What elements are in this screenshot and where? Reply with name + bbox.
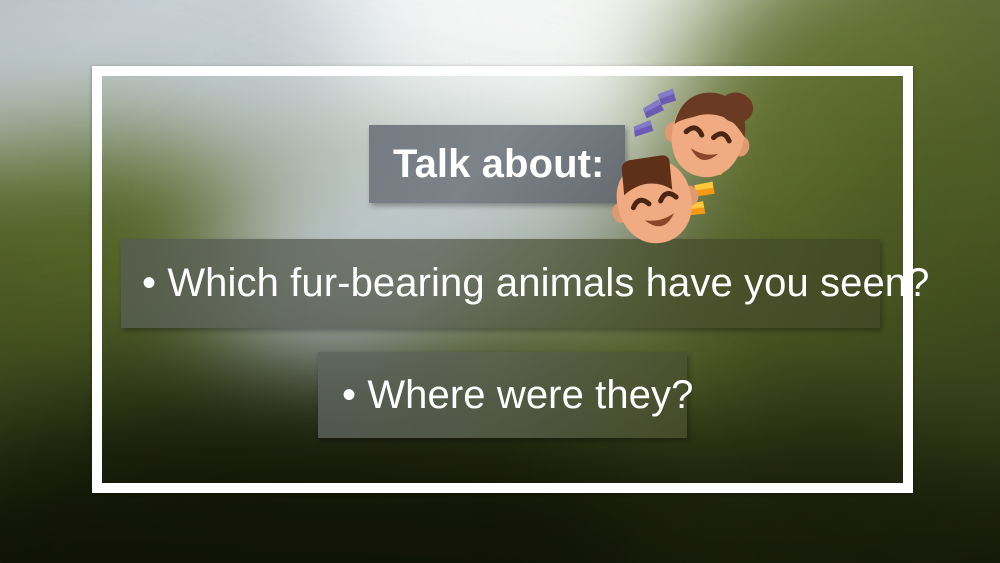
title-banner: Talk about: — [369, 125, 625, 203]
two-people-talking-emoji-icon — [604, 82, 756, 244]
page-title: Talk about: — [393, 142, 604, 187]
bullet-banner-1: • Which fur-bearing animals have you see… — [121, 239, 880, 328]
slide-canvas: Talk about: • Which fur-bearing animals … — [0, 0, 1000, 563]
bullet-text-1: • Which fur-bearing animals have you see… — [142, 261, 930, 306]
bullet-text-2: • Where were they? — [342, 373, 694, 418]
bullet-banner-2: • Where were they? — [318, 352, 687, 438]
